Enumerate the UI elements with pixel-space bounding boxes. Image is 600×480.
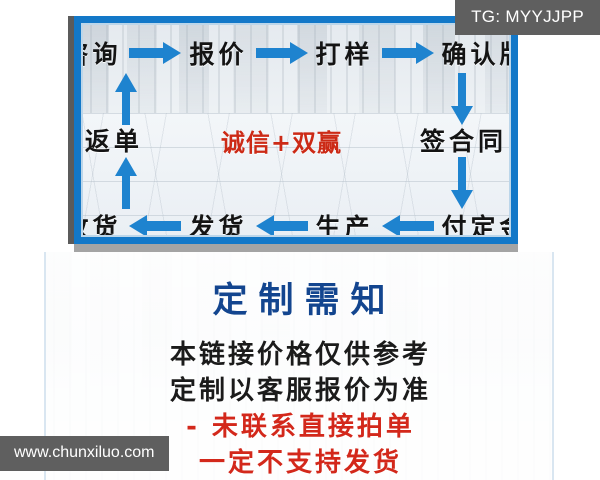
arrow-left-icon <box>129 215 181 237</box>
arrow-right-icon <box>256 42 308 64</box>
flow-node-reorder: 返单 <box>85 122 143 158</box>
flow-node-consult: 咨询 <box>81 35 121 71</box>
site-watermark: www.chunxiluo.com <box>0 436 169 471</box>
flow-node-quote: 报价 <box>189 35 247 71</box>
flow-node-deposit: 付定金 <box>442 208 511 237</box>
arrow-up-icon <box>113 157 139 209</box>
flow-node-sample: 打样 <box>316 35 374 71</box>
notice-line-price-reference: 本链接价格仅供参考 <box>46 334 552 371</box>
arrow-right-icon <box>382 42 434 64</box>
screenshot-stage: 咨询 报价 打样 确认版 <box>0 0 600 480</box>
arrow-left-icon <box>382 215 434 237</box>
flow-node-ship-goods: 发货 <box>189 208 247 237</box>
flow-node-receive-goods: 收货 <box>81 208 121 237</box>
notice-line-quote-by-service: 定制以客服报价为准 <box>46 370 552 407</box>
notice-title: 定制需知 <box>46 272 552 323</box>
flow-node-production: 生产 <box>316 208 374 237</box>
process-flow-inner-frame: 咨询 报价 打样 确认版 <box>81 23 511 237</box>
flow-node-sign-contract: 签合同 <box>420 122 507 158</box>
flow-row-top: 咨询 报价 打样 确认版 <box>83 31 509 75</box>
process-flow-panel: 咨询 报价 打样 确认版 <box>74 16 518 244</box>
slogan-integrity-winwin: 诚信+双赢 <box>221 123 342 158</box>
telegram-handle-badge: TG: MYYJJPP <box>455 0 600 35</box>
flow-node-confirm: 确认版 <box>442 35 511 71</box>
arrow-down-icon <box>449 157 475 209</box>
flow-row-bottom: 收货 发货 生产 付定金 <box>83 203 509 237</box>
flow-row-middle: 返单 诚信+双赢 签合同 <box>83 117 509 163</box>
arrow-right-icon <box>129 42 181 64</box>
arrow-left-icon <box>256 215 308 237</box>
